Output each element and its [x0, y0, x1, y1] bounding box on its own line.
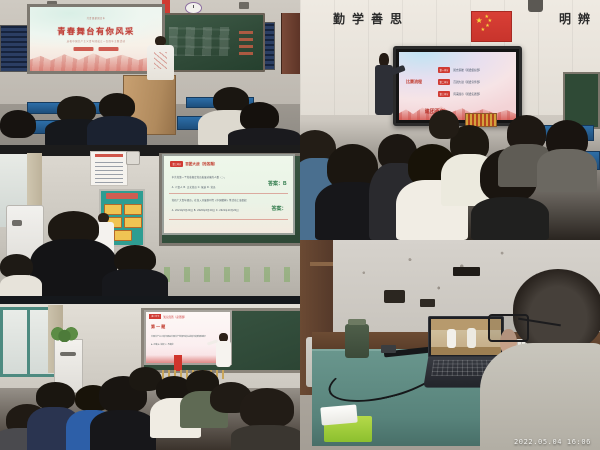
tv-row-tag: 第二环节: [438, 79, 451, 85]
photo-top-left-classroom-stage: 共青团建团百年 青春舞台有你风采 庆祝中国共产主义青年团成立一百周年主题活动: [0, 0, 300, 145]
photo-bottom-right-desk: 2022.05.04 16:06: [300, 240, 600, 450]
surveillance-camera-icon: [528, 0, 543, 12]
slide-answer-1: 答案：B: [268, 180, 287, 187]
photo-top-right-auditorium: 勤学善思 明辨 ★★ ★★★ 比赛流程 第一环节 团史基础（团委组织部）: [300, 0, 600, 240]
chalkboard-red-writing: [239, 29, 253, 54]
wall-notice-list: [90, 151, 128, 186]
wall-decoration-strip: [150, 267, 294, 282]
projection-screen: 第三环节 百团大战（抢答题） 中共党第一个党章规定党员发展对象的人数（ ）。 A…: [162, 154, 295, 235]
photo-mid-left-quiz: 第三环节 百团大战（抢答题） 中共党第一个党章规定党员发展对象的人数（ ）。 A…: [0, 145, 300, 296]
tv-row-tag: 第三环节: [438, 91, 451, 97]
wall-slogan-right: 明辨: [559, 10, 597, 27]
wall-mounted-tv: 比赛流程 第一环节 团史基础（团委组织部） 第二环节 百团大战（团委宣传部） 第…: [393, 46, 522, 126]
collage-right-column: 勤学善思 明辨 ★★ ★★★ 比赛流程 第一环节 团史基础（团委组织部）: [300, 0, 600, 450]
slide-header-title: 百团大战（抢答题）: [185, 162, 217, 167]
wall-slogan-left: 勤学善思: [333, 10, 409, 27]
tv-slide: 比赛流程 第一环节 团史基础（团委组织部） 第二环节 百团大战（团委宣传部） 第…: [399, 52, 516, 120]
wall-sticker: [384, 290, 405, 303]
wall-panel-left: [0, 25, 29, 72]
audience-torso: [231, 425, 300, 450]
tv-row-tag: 第一环节: [438, 67, 451, 73]
tissue-box: [324, 416, 372, 441]
slide-answer-2: 答案：: [272, 205, 287, 212]
audience-torso: [471, 197, 549, 240]
slide-options-2: A. 2021年5月20日 B. 2020年6月20日 C. 2021年10月2…: [172, 208, 239, 212]
slide-question-title: 第 一 题: [151, 324, 165, 330]
slide-badge: 第二环节: [149, 314, 161, 319]
wall-sensor-icon: [126, 151, 140, 165]
ceiling-speaker-right: [239, 2, 250, 9]
power-adapter: [381, 345, 396, 353]
potted-plant: [51, 327, 78, 342]
chinese-flag-icon: ★★ ★★★: [471, 11, 512, 42]
projection-screen: 共青团建团百年 青春舞台有你风采 庆祝中国共产主义青年团成立一百周年主题活动: [27, 4, 165, 74]
slide-header: 第三环节 百团大战（抢答题）: [170, 161, 217, 167]
slide-header-title: 知识竞答（必答题）: [163, 315, 186, 319]
audience-torso: [537, 149, 597, 192]
tv-row-text: 百团大战（团委宣传部）: [453, 80, 482, 84]
audience-head: [429, 110, 459, 139]
tv-row-text: 团史基础（团委组织部）: [453, 68, 482, 72]
slide-line-1: 中国共产主义青年团是中国共产党领导的先进青年的群团组织？: [151, 335, 207, 338]
teacher-figure: [216, 333, 231, 367]
audience-torso: [87, 116, 147, 145]
red-flag-icon: [174, 355, 182, 372]
foreground-student-torso: [0, 275, 42, 296]
audience-torso: [90, 410, 156, 450]
slide-question-2: 党和广大青年团员，在深入开展新时代《中国精神》等活动上海组织: [172, 198, 247, 202]
tv-slide-row: 第三环节 风采展示（团委实践部）: [438, 91, 482, 97]
slide-line-2: A. 正确 B. 错误 C. 不确定: [151, 343, 174, 346]
collage-left-column: 共青团建团百年 青春舞台有你风采 庆祝中国共产主义青年团成立一百周年主题活动: [0, 0, 300, 450]
green-chalkboard: [159, 13, 265, 72]
wall-sticker: [420, 299, 435, 307]
photo-bottom-left-audience: 第二环节 知识竞答（必答题） 第 一 题 中国共产主义青年团是中国共产党领导的先…: [0, 296, 300, 450]
viewer-figure: [480, 269, 600, 450]
tv-slide-row: 第一环节 团史基础（团委组织部）: [438, 67, 482, 73]
tea-tin: [345, 324, 369, 358]
audience-torso: [228, 128, 300, 145]
audience-head: [240, 388, 294, 428]
presenter-figure: [147, 36, 174, 80]
wall-sticker: [453, 267, 480, 275]
slide-subtitle: 庆祝中国共产主义青年团成立一百周年主题活动: [67, 39, 126, 43]
slide-title: 青春舞台有你风采: [57, 25, 135, 37]
audience-head: [0, 110, 36, 138]
audience-head: [99, 93, 135, 119]
viewer-shoulder: [480, 343, 600, 450]
slide-header: 第二环节 知识竞答（必答题）: [149, 314, 186, 319]
foreground-student-torso: [102, 269, 168, 296]
tv-slide-left-title: 比赛流程: [406, 79, 422, 85]
audience-head: [240, 102, 279, 131]
classroom-door: [281, 13, 300, 74]
slide-tags: [74, 47, 119, 51]
tv-slide-row: 第二环节 百团大战（团委宣传部）: [438, 79, 482, 85]
slide-top-line: 共青团建团百年: [87, 16, 106, 20]
audience-head: [36, 382, 75, 410]
slide-question-1: 中共党第一个党章规定党员发展对象的人数（ ）。: [172, 175, 227, 179]
photo-timestamp: 2022.05.04 16:06: [514, 438, 591, 446]
presenter-figure: [375, 53, 393, 115]
photo-collage: 共青团建团百年 青春舞台有你风采 庆祝中国共产主义青年团成立一百周年主题活动: [0, 0, 600, 450]
slide-options-1: A. 介绍人 B. 正式党员 C. 候选 D. 党员: [172, 185, 216, 189]
slide-badge: 第三环节: [170, 161, 183, 167]
tv-row-text: 风采展示（团委实践部）: [453, 92, 482, 96]
